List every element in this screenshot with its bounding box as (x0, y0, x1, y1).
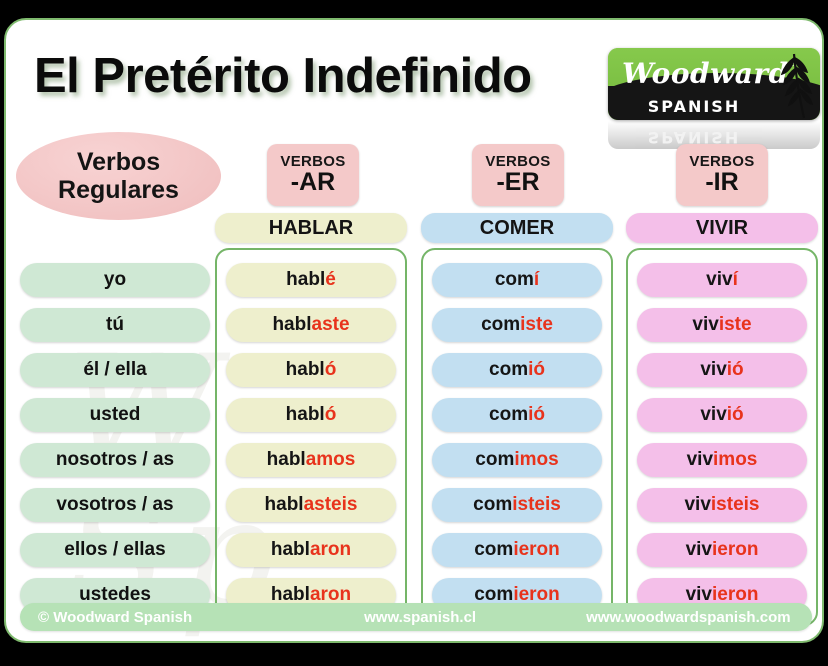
verb-stem: habl (286, 269, 325, 291)
pronoun-column: yotúél / ellaustednosotros / asvosotros … (20, 263, 210, 623)
conjugation-pill: hablasteis (226, 488, 396, 522)
pronoun-pill: él / ella (20, 353, 210, 387)
verb-stem: habl (267, 449, 306, 471)
verb-type-label: VERBOS (485, 154, 550, 169)
verb-ending: iste (719, 314, 752, 336)
conjugation-pill: hablamos (226, 443, 396, 477)
verb-stem: com (481, 314, 520, 336)
conjugation-pill: comió (432, 353, 602, 387)
pronoun-pill: tú (20, 308, 210, 342)
verbos-regulares-badge: Verbos Regulares (16, 132, 221, 220)
conjugation-pill: comimos (432, 443, 602, 477)
conjugation-group-vivir: vivívivistevivióvivióvivimosvivisteisviv… (626, 248, 818, 626)
verb-ending: é (325, 269, 336, 291)
verb-ending: aron (310, 539, 351, 561)
conjugation-pill: habló (226, 398, 396, 432)
conjugation-pill: vivimos (637, 443, 807, 477)
verb-stem: habl (286, 404, 325, 426)
verb-ending: aste (312, 314, 350, 336)
verb-type-ending: -AR (291, 169, 335, 195)
verb-ending: ió (528, 359, 545, 381)
verb-type-label: VERBOS (689, 154, 754, 169)
verb-ending: amos (306, 449, 356, 471)
verb-stem: viv (686, 539, 712, 561)
verb-ending: imos (713, 449, 757, 471)
verb-ending: isteis (711, 494, 760, 516)
verb-ending: ió (727, 404, 744, 426)
footer-bar: © Woodward Spanish www.spanish.cl www.wo… (20, 603, 812, 631)
verb-ending: isteis (512, 494, 561, 516)
verb-ending: í (733, 269, 738, 291)
pronoun-pill: nosotros / as (20, 443, 210, 477)
conjugation-pill: comió (432, 398, 602, 432)
conjugation-pill: hablaste (226, 308, 396, 342)
verb-stem: com (475, 449, 514, 471)
pronoun-pill: yo (20, 263, 210, 297)
verb-type-ending: -IR (705, 169, 738, 195)
conjugation-pill: hablé (226, 263, 396, 297)
conjugation-pill: hablaron (226, 533, 396, 567)
pronoun-pill: ellos / ellas (20, 533, 210, 567)
conjugation-pill: vivisteis (637, 488, 807, 522)
verb-ending: iste (520, 314, 553, 336)
conjugation-pill: vivió (637, 398, 807, 432)
verb-stem: com (473, 494, 512, 516)
verb-ending: í (534, 269, 539, 291)
verb-stem: com (489, 404, 528, 426)
poster-card: WSp El Pretérito Indefinido Woodward ® S… (4, 18, 824, 643)
verb-infinitive-comer: COMER (421, 213, 613, 243)
pronoun-pill: usted (20, 398, 210, 432)
logo-subtitle-text: SPANISH (608, 97, 780, 116)
conjugation-pill: comiste (432, 308, 602, 342)
verb-stem: viv (700, 359, 726, 381)
verb-type-badge-er: VERBOS-ER (472, 144, 564, 206)
verb-ending: ó (325, 404, 337, 426)
verb-stem: viv (684, 494, 710, 516)
verb-type-badge-ar: VERBOS-AR (267, 144, 359, 206)
verb-type-ending: -ER (496, 169, 539, 195)
verb-ending: ó (325, 359, 337, 381)
footer-link-woodwardspanish[interactable]: www.woodwardspanish.com (586, 609, 790, 626)
conjugation-pill: vivió (637, 353, 807, 387)
verb-stem: habl (271, 539, 310, 561)
verb-stem: com (474, 539, 513, 561)
verb-infinitive-vivir: VIVIR (626, 213, 818, 243)
footer-copyright: © Woodward Spanish (38, 609, 192, 626)
pronoun-pill: vosotros / as (20, 488, 210, 522)
verb-ending: ió (528, 404, 545, 426)
verb-type-label: VERBOS (280, 154, 345, 169)
verb-stem: habl (272, 314, 311, 336)
verb-stem: com (489, 359, 528, 381)
verb-ending: imos (514, 449, 558, 471)
logo-box: Woodward ® SPANISH (608, 48, 820, 120)
conjugation-pill: comí (432, 263, 602, 297)
verb-infinitive-hablar: HABLAR (215, 213, 407, 243)
conjugation-pill: comisteis (432, 488, 602, 522)
verb-stem: com (495, 269, 534, 291)
verb-type-badge-ir: VERBOS-IR (676, 144, 768, 206)
verb-ending: ió (727, 359, 744, 381)
conjugation-group-hablar: habléhablastehablóhablóhablamoshablastei… (215, 248, 407, 626)
verb-stem: viv (706, 269, 732, 291)
verb-ending: ieron (712, 539, 758, 561)
footer-link-spanish-cl[interactable]: www.spanish.cl (364, 609, 476, 626)
verb-stem: viv (692, 314, 718, 336)
screenshot-root: WSp El Pretérito Indefinido Woodward ® S… (0, 0, 828, 666)
verbos-regulares-line2: Regulares (58, 176, 179, 204)
conjugation-pill: vivieron (637, 533, 807, 567)
verb-stem: viv (700, 404, 726, 426)
conjugation-pill: habló (226, 353, 396, 387)
woodward-spanish-logo[interactable]: Woodward ® SPANISH (608, 48, 820, 120)
verb-ending: ieron (513, 539, 559, 561)
conjugation-pill: comieron (432, 533, 602, 567)
conjugation-group-comer: comícomistecomiócomiócomimoscomisteiscom… (421, 248, 613, 626)
conjugation-pill: viví (637, 263, 807, 297)
verbos-regulares-line1: Verbos (77, 148, 160, 176)
verb-stem: habl (265, 494, 304, 516)
conjugation-pill: viviste (637, 308, 807, 342)
verb-stem: viv (687, 449, 713, 471)
verb-ending: asteis (304, 494, 358, 516)
verb-stem: habl (286, 359, 325, 381)
page-title: El Pretérito Indefinido (34, 48, 532, 104)
fern-leaf-icon (764, 50, 816, 120)
